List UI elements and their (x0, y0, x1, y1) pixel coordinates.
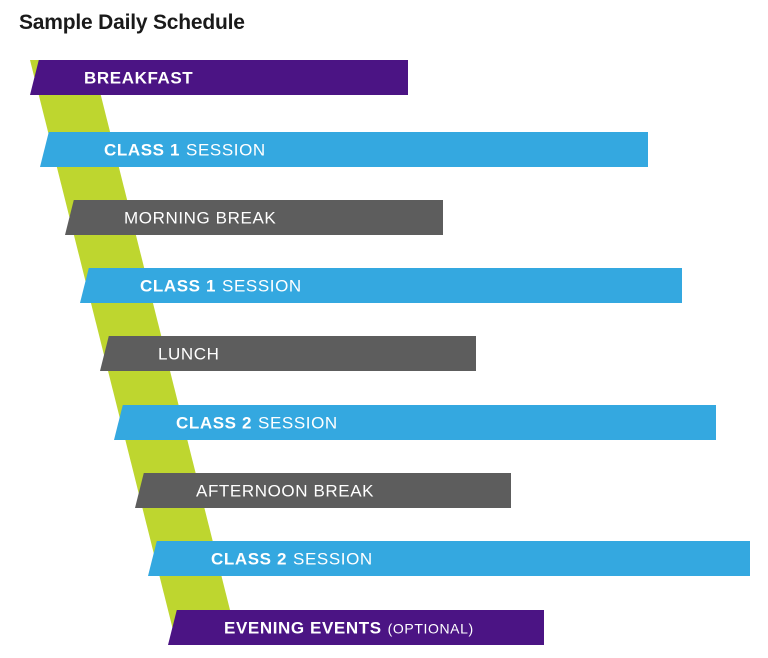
bar-label-sub: SESSION (258, 414, 338, 433)
bar-label-sub: SESSION (186, 141, 266, 160)
bar-label-lunch: LUNCH (158, 345, 220, 364)
bar-label-sub: SESSION (293, 550, 373, 569)
schedule-bar-class-2-session-afternoon[interactable]: CLASS 2SESSION (114, 405, 716, 440)
bar-label-afternoon-break: AFTERNOON BREAK (196, 482, 374, 501)
schedule-bar-class-2-session-evening[interactable]: CLASS 2SESSION (148, 541, 750, 576)
bar-label-main: LUNCH (158, 345, 220, 364)
bar-label-main: BREAKFAST (84, 69, 193, 88)
schedule-bars: BREAKFASTCLASS 1SESSIONMORNING BREAKCLAS… (30, 60, 750, 645)
bar-label-main: CLASS 1 (140, 277, 216, 296)
bar-label-main: MORNING BREAK (124, 209, 276, 228)
bar-label-main: CLASS 2 (211, 550, 287, 569)
bar-label-main: EVENING EVENTS (224, 619, 382, 638)
schedule-bar-class-1-session-late-morning[interactable]: CLASS 1SESSION (80, 268, 682, 303)
schedule-bar-breakfast[interactable]: BREAKFAST (30, 60, 408, 95)
bar-label-breakfast: BREAKFAST (84, 69, 193, 88)
bar-shape (100, 336, 476, 371)
bar-label-main: AFTERNOON BREAK (196, 482, 374, 501)
schedule-bar-evening-events[interactable]: EVENING EVENTS(OPTIONAL) (168, 610, 544, 645)
schedule-bar-afternoon-break[interactable]: AFTERNOON BREAK (135, 473, 511, 508)
bar-label-main: CLASS 2 (176, 414, 252, 433)
schedule-bar-class-1-session-morning[interactable]: CLASS 1SESSION (40, 132, 648, 167)
bar-label-sub: (OPTIONAL) (388, 621, 474, 637)
bar-label-evening-events: EVENING EVENTS(OPTIONAL) (224, 619, 474, 638)
schedule-diagram: BREAKFASTCLASS 1SESSIONMORNING BREAKCLAS… (0, 0, 768, 658)
schedule-bar-lunch[interactable]: LUNCH (100, 336, 476, 371)
bar-label-sub: SESSION (222, 277, 302, 296)
bar-label-main: CLASS 1 (104, 141, 180, 160)
bar-label-morning-break: MORNING BREAK (124, 209, 276, 228)
schedule-bar-morning-break[interactable]: MORNING BREAK (65, 200, 443, 235)
